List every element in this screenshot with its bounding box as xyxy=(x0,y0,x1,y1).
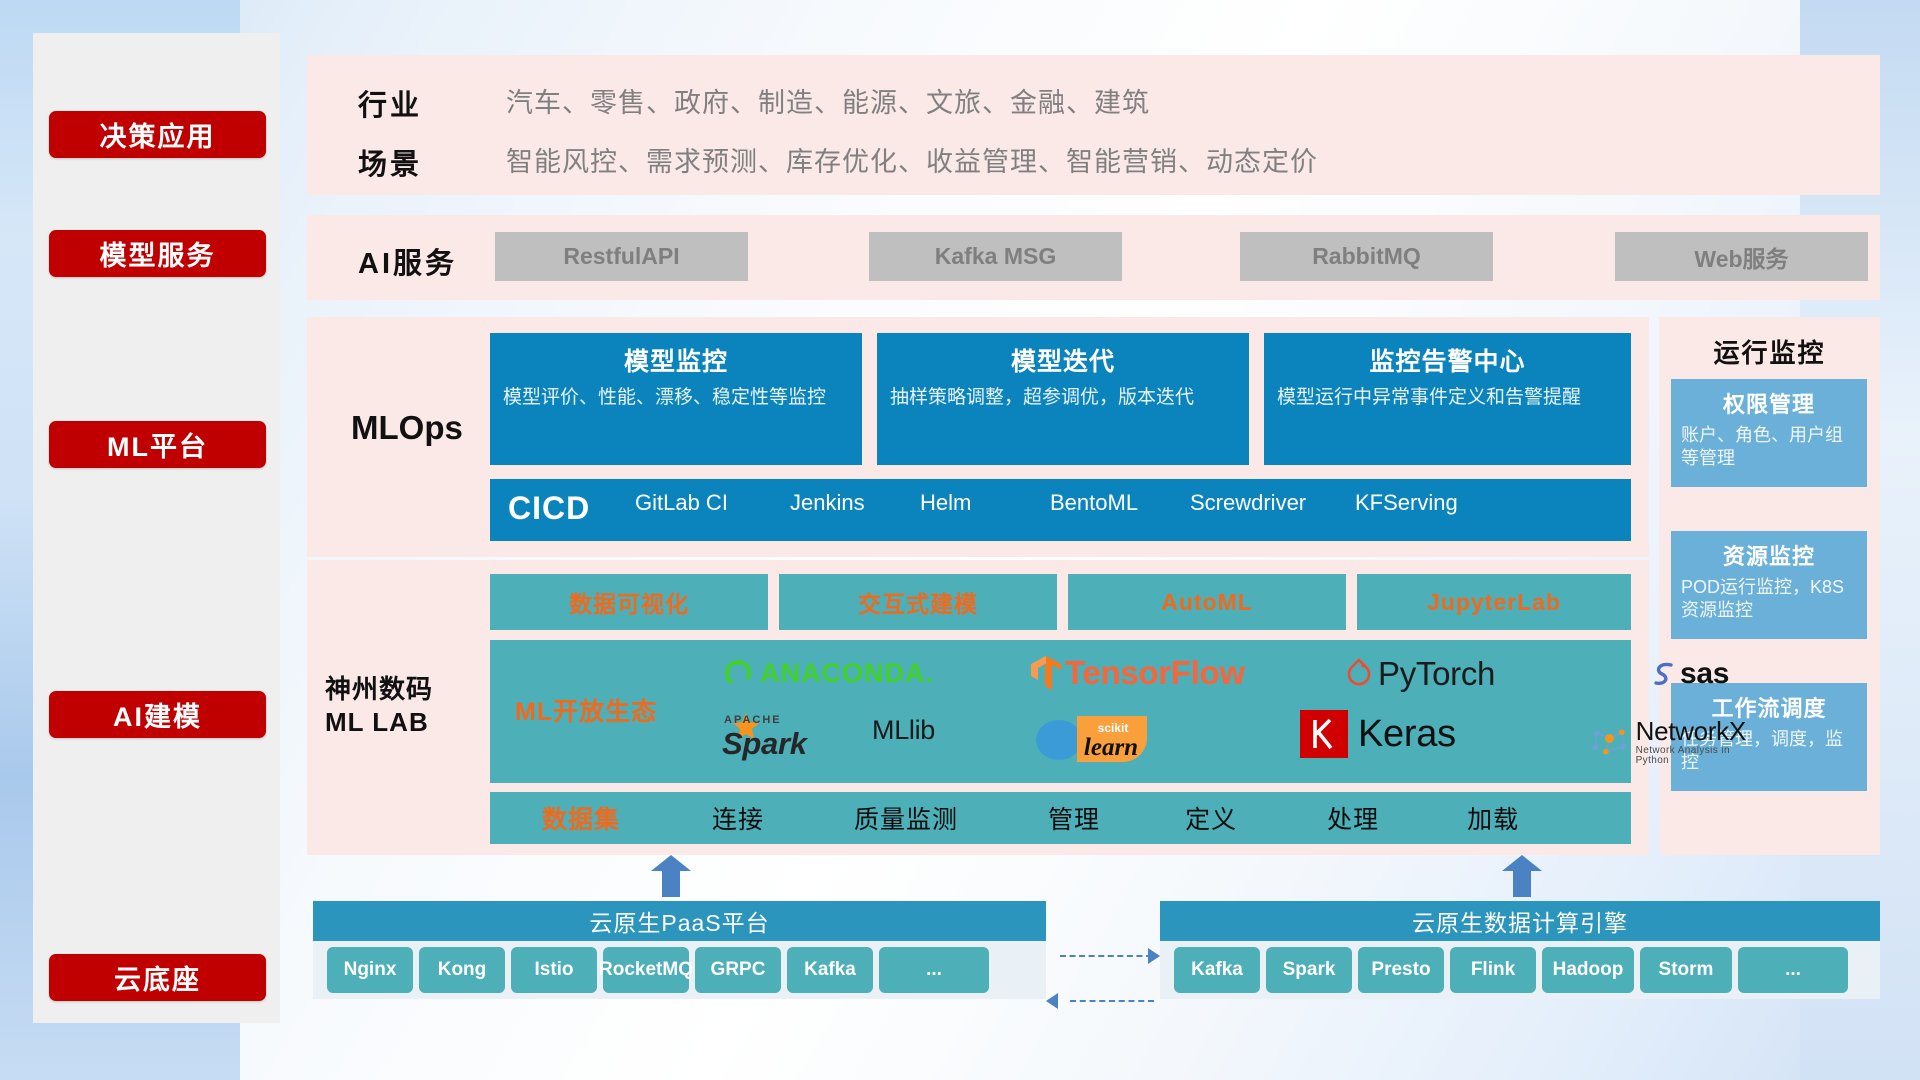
layer-label-decision[interactable]: 决策应用 xyxy=(49,111,266,158)
ml-lab-name-line1: 神州数码 xyxy=(325,673,485,706)
cicd-item-bentoml[interactable]: BentoML xyxy=(1050,490,1145,516)
networkx-wordmark: NetworkX xyxy=(1636,718,1752,744)
runtime-monitoring-title: 运行监控 xyxy=(1659,317,1880,370)
compute-tag-presto[interactable]: Presto xyxy=(1358,947,1444,993)
compute-tag-kafka[interactable]: Kafka xyxy=(1174,947,1260,993)
mlops-card-desc: 模型评价、性能、漂移、稳定性等监控 xyxy=(503,385,849,410)
paas-tag-bar: Nginx Kong Istio RocketMQ GRPC Kafka ... xyxy=(313,941,1046,999)
lab-chip-jupyterlab[interactable]: JupyterLab xyxy=(1357,574,1631,630)
cicd-title: CICD xyxy=(508,490,590,527)
ml-lab-panel: 神州数码 ML LAB 数据可视化 交互式建模 AutoML JupyterLa… xyxy=(307,560,1649,855)
mlops-card-title: 监控告警中心 xyxy=(1277,342,1618,378)
dashed-arrowhead-left xyxy=(1046,993,1058,1009)
anaconda-wordmark: ANACONDA. xyxy=(760,658,934,689)
cicd-item-jenkins[interactable]: Jenkins xyxy=(790,490,885,516)
arrow-up-paas xyxy=(651,855,691,897)
lab-chip-interactive-modeling[interactable]: 交互式建模 xyxy=(779,574,1057,630)
paas-tag-rocketmq[interactable]: RocketMQ xyxy=(603,947,689,993)
paas-tag-grpc[interactable]: GRPC xyxy=(695,947,781,993)
industry-label: 行业 xyxy=(358,82,422,124)
dataset-item-loading[interactable]: 加载 xyxy=(1467,800,1519,836)
paas-tag-istio[interactable]: Istio xyxy=(511,947,597,993)
compute-tag-flink[interactable]: Flink xyxy=(1450,947,1536,993)
layer-rail: 决策应用 模型服务 ML平台 AI建模 云底座 xyxy=(33,33,280,1023)
anaconda-icon xyxy=(722,657,754,689)
ml-ecosystem-band: ML开放生态 ANACONDA. TensorFlow PyTorch xyxy=(490,640,1631,783)
compute-tag-more[interactable]: ... xyxy=(1738,947,1848,993)
industry-text: 汽车、零售、政府、制造、能源、文旅、金融、建筑 xyxy=(506,81,1150,120)
svg-text:scikit: scikit xyxy=(1098,721,1129,735)
mlops-card-alert-center[interactable]: 监控告警中心 模型运行中异常事件定义和告警提醒 xyxy=(1264,333,1631,465)
networkx-icon xyxy=(1590,722,1631,762)
scenario-text: 智能风控、需求预测、库存优化、收益管理、智能营销、动态定价 xyxy=(506,140,1318,179)
cicd-item-gitlab-ci[interactable]: GitLab CI xyxy=(635,490,730,516)
mlops-card-desc: 模型运行中异常事件定义和告警提醒 xyxy=(1277,385,1618,410)
cicd-item-kfserving[interactable]: KFServing xyxy=(1355,490,1450,516)
pytorch-icon xyxy=(1345,658,1373,690)
keras-wordmark: Keras xyxy=(1358,713,1456,756)
anaconda-logo: ANACONDA. xyxy=(722,657,934,689)
decision-application-panel: 行业 汽车、零售、政府、制造、能源、文旅、金融、建筑 场景 智能风控、需求预测、… xyxy=(307,55,1880,195)
ai-service-label: AI服务 xyxy=(358,240,457,282)
lab-chip-data-visualization[interactable]: 数据可视化 xyxy=(490,574,768,630)
scikit-learn-logo: scikit learn xyxy=(1035,708,1175,766)
monitor-card-resource[interactable]: 资源监控 POD运行监控，K8S资源监控 xyxy=(1671,531,1867,639)
layer-label-cloud-base[interactable]: 云底座 xyxy=(49,954,266,1001)
mlops-card-title: 模型迭代 xyxy=(890,342,1236,378)
monitor-card-title: 权限管理 xyxy=(1681,387,1857,419)
mlops-card-model-iteration[interactable]: 模型迭代 抽样策略调整，超参调优，版本迭代 xyxy=(877,333,1249,465)
keras-icon xyxy=(1300,710,1348,758)
svg-text:learn: learn xyxy=(1084,734,1138,761)
layer-label-ml-platform[interactable]: ML平台 xyxy=(49,421,266,468)
ai-service-chip-rabbitmq[interactable]: RabbitMQ xyxy=(1240,232,1493,281)
compute-tag-bar: Kafka Spark Presto Flink Hadoop Storm ..… xyxy=(1160,941,1880,999)
dataset-band: 数据集 连接 质量监测 管理 定义 处理 加载 xyxy=(490,792,1631,844)
dashed-connector-left xyxy=(1070,1000,1154,1002)
cicd-bar: CICD GitLab CI Jenkins Helm BentoML Scre… xyxy=(490,479,1631,541)
ai-service-chip-kafka-msg[interactable]: Kafka MSG xyxy=(869,232,1122,281)
paas-tag-nginx[interactable]: Nginx xyxy=(327,947,413,993)
cicd-item-screwdriver[interactable]: Screwdriver xyxy=(1190,490,1285,516)
tensorflow-wordmark: TensorFlow xyxy=(1065,654,1245,692)
ai-service-chip-restfulapi[interactable]: RestfulAPI xyxy=(495,232,748,281)
dataset-label: 数据集 xyxy=(542,800,620,836)
ai-service-chip-web-service[interactable]: Web服务 xyxy=(1615,232,1868,281)
keras-logo: Keras xyxy=(1300,710,1456,758)
runtime-monitoring-panel: 运行监控 权限管理 账户、角色、用户组等管理 资源监控 POD运行监控，K8S资… xyxy=(1659,317,1880,855)
sas-wordmark: sas xyxy=(1680,657,1729,691)
mlops-panel: MLOps 模型监控 模型评价、性能、漂移、稳定性等监控 模型迭代 抽样策略调整… xyxy=(307,317,1649,557)
ml-ecosystem-label: ML开放生态 xyxy=(515,692,657,728)
ml-lab-name-line2: ML LAB xyxy=(325,706,485,739)
dataset-item-processing[interactable]: 处理 xyxy=(1327,800,1379,836)
compute-tag-hadoop[interactable]: Hadoop xyxy=(1542,947,1634,993)
compute-tag-storm[interactable]: Storm xyxy=(1640,947,1732,993)
dataset-item-definition[interactable]: 定义 xyxy=(1185,800,1237,836)
networkx-logo: NetworkX Network Analysis in Python xyxy=(1590,718,1751,766)
dataset-item-management[interactable]: 管理 xyxy=(1048,800,1100,836)
spark-apache-text: APACHE xyxy=(724,714,782,726)
paas-header: 云原生PaaS平台 xyxy=(313,901,1046,941)
layer-label-model-service[interactable]: 模型服务 xyxy=(49,230,266,277)
cicd-item-helm[interactable]: Helm xyxy=(920,490,1015,516)
monitor-card-desc: 账户、角色、用户组等管理 xyxy=(1681,424,1857,471)
sas-logo: sas xyxy=(1649,657,1729,691)
dashed-connector-right xyxy=(1060,955,1152,957)
tensorflow-logo: TensorFlow xyxy=(1030,654,1245,692)
mlops-card-desc: 抽样策略调整，超参调优，版本迭代 xyxy=(890,385,1236,410)
mlops-card-model-monitoring[interactable]: 模型监控 模型评价、性能、漂移、稳定性等监控 xyxy=(490,333,862,465)
monitor-card-permission[interactable]: 权限管理 账户、角色、用户组等管理 xyxy=(1671,379,1867,487)
arrow-up-compute xyxy=(1502,855,1542,897)
ai-service-panel: AI服务 RestfulAPI Kafka MSG RabbitMQ Web服务 xyxy=(307,215,1880,300)
tensorflow-icon xyxy=(1030,655,1062,691)
scikit-learn-icon: scikit learn xyxy=(1035,708,1175,766)
networkx-tagline: Network Analysis in Python xyxy=(1636,746,1752,766)
dataset-item-connect[interactable]: 连接 xyxy=(712,800,764,836)
dataset-item-quality-monitoring[interactable]: 质量监测 xyxy=(854,800,958,836)
dashed-arrowhead-right xyxy=(1148,948,1160,964)
spark-mllib-logo: APACHE Spark MLlib xyxy=(722,712,935,748)
paas-tag-more[interactable]: ... xyxy=(879,947,989,993)
mllib-wordmark: MLlib xyxy=(872,715,935,746)
monitor-card-desc: POD运行监控，K8S资源监控 xyxy=(1681,576,1857,623)
scenario-label: 场景 xyxy=(358,141,422,183)
lab-chip-automl[interactable]: AutoML xyxy=(1068,574,1346,630)
mlops-card-title: 模型监控 xyxy=(503,342,849,378)
layer-label-ai-modeling[interactable]: AI建模 xyxy=(49,691,266,738)
monitor-card-title: 资源监控 xyxy=(1681,539,1857,571)
compute-header: 云原生数据计算引擎 xyxy=(1160,901,1880,941)
pytorch-logo: PyTorch xyxy=(1345,655,1495,693)
sas-icon xyxy=(1649,659,1679,689)
compute-tag-spark[interactable]: Spark xyxy=(1266,947,1352,993)
paas-tag-kong[interactable]: Kong xyxy=(419,947,505,993)
paas-tag-kafka[interactable]: Kafka xyxy=(787,947,873,993)
ml-lab-name: 神州数码 ML LAB xyxy=(325,673,485,740)
mlops-label: MLOps xyxy=(351,409,463,447)
pytorch-wordmark: PyTorch xyxy=(1378,655,1495,693)
spark-wordmark: Spark xyxy=(722,726,807,762)
